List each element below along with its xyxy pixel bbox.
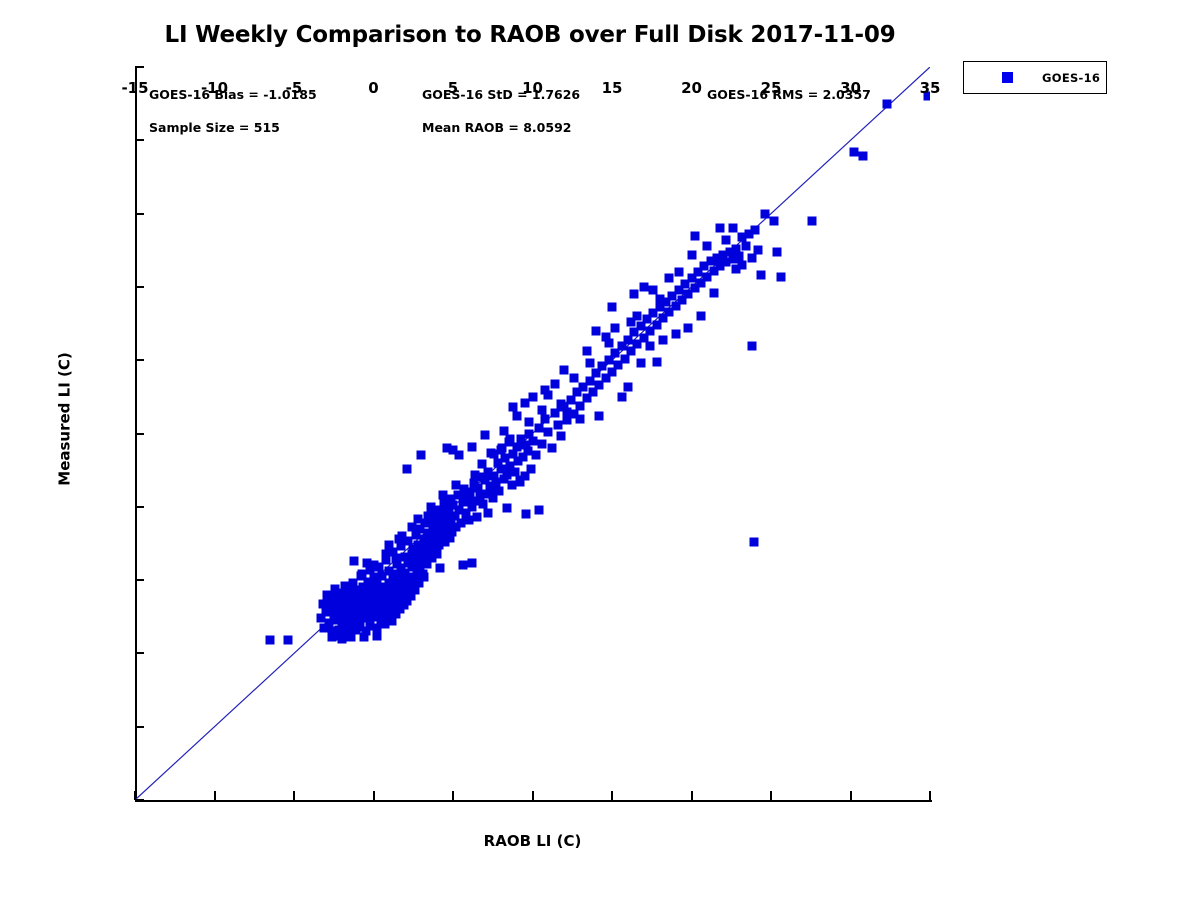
y-tick-mark	[135, 579, 144, 581]
legend: GOES-16	[963, 61, 1107, 94]
y-tick-mark	[135, 139, 144, 141]
x-tick-mark	[452, 791, 454, 800]
axis-ticks: -15-10-505101520253035 -15-10-5051015202…	[135, 67, 930, 800]
y-axis-title: Measured LI (C)	[50, 0, 80, 900]
x-tick-label: 0	[368, 79, 378, 97]
x-tick-mark	[293, 791, 295, 800]
y-axis-title-text: Measured LI (C)	[56, 352, 74, 485]
y-tick-mark	[135, 359, 144, 361]
x-tick-label: 10	[522, 79, 543, 97]
x-tick-mark	[373, 791, 375, 800]
x-tick-mark	[134, 791, 136, 800]
x-tick-label: -15	[121, 79, 148, 97]
x-tick-label: -10	[201, 79, 228, 97]
x-tick-label: 25	[761, 79, 782, 97]
x-tick-mark	[214, 791, 216, 800]
y-tick-mark	[135, 726, 144, 728]
y-tick-mark	[135, 66, 144, 68]
y-tick-mark	[135, 506, 144, 508]
x-tick-mark	[532, 791, 534, 800]
y-tick-mark	[135, 652, 144, 654]
x-tick-label: 15	[602, 79, 623, 97]
x-axis-title: RAOB LI (C)	[135, 832, 930, 850]
y-tick-mark	[135, 286, 144, 288]
x-tick-mark	[770, 791, 772, 800]
y-tick-mark	[135, 433, 144, 435]
y-tick-mark	[135, 213, 144, 215]
x-tick-mark	[691, 791, 693, 800]
page-title: LI Weekly Comparison to RAOB over Full D…	[0, 22, 1060, 48]
scatter-plot-figure: LI Weekly Comparison to RAOB over Full D…	[0, 0, 1200, 900]
x-tick-mark	[611, 791, 613, 800]
x-tick-label: 20	[681, 79, 702, 97]
x-tick-label: 5	[448, 79, 458, 97]
x-tick-mark	[929, 791, 931, 800]
x-tick-mark	[850, 791, 852, 800]
legend-swatch-goes16	[1002, 72, 1013, 83]
x-tick-label: 35	[920, 79, 941, 97]
x-tick-label: 30	[840, 79, 861, 97]
legend-label-goes16: GOES-16	[1042, 71, 1100, 85]
x-tick-label: -5	[286, 79, 303, 97]
y-tick-mark	[135, 799, 144, 801]
